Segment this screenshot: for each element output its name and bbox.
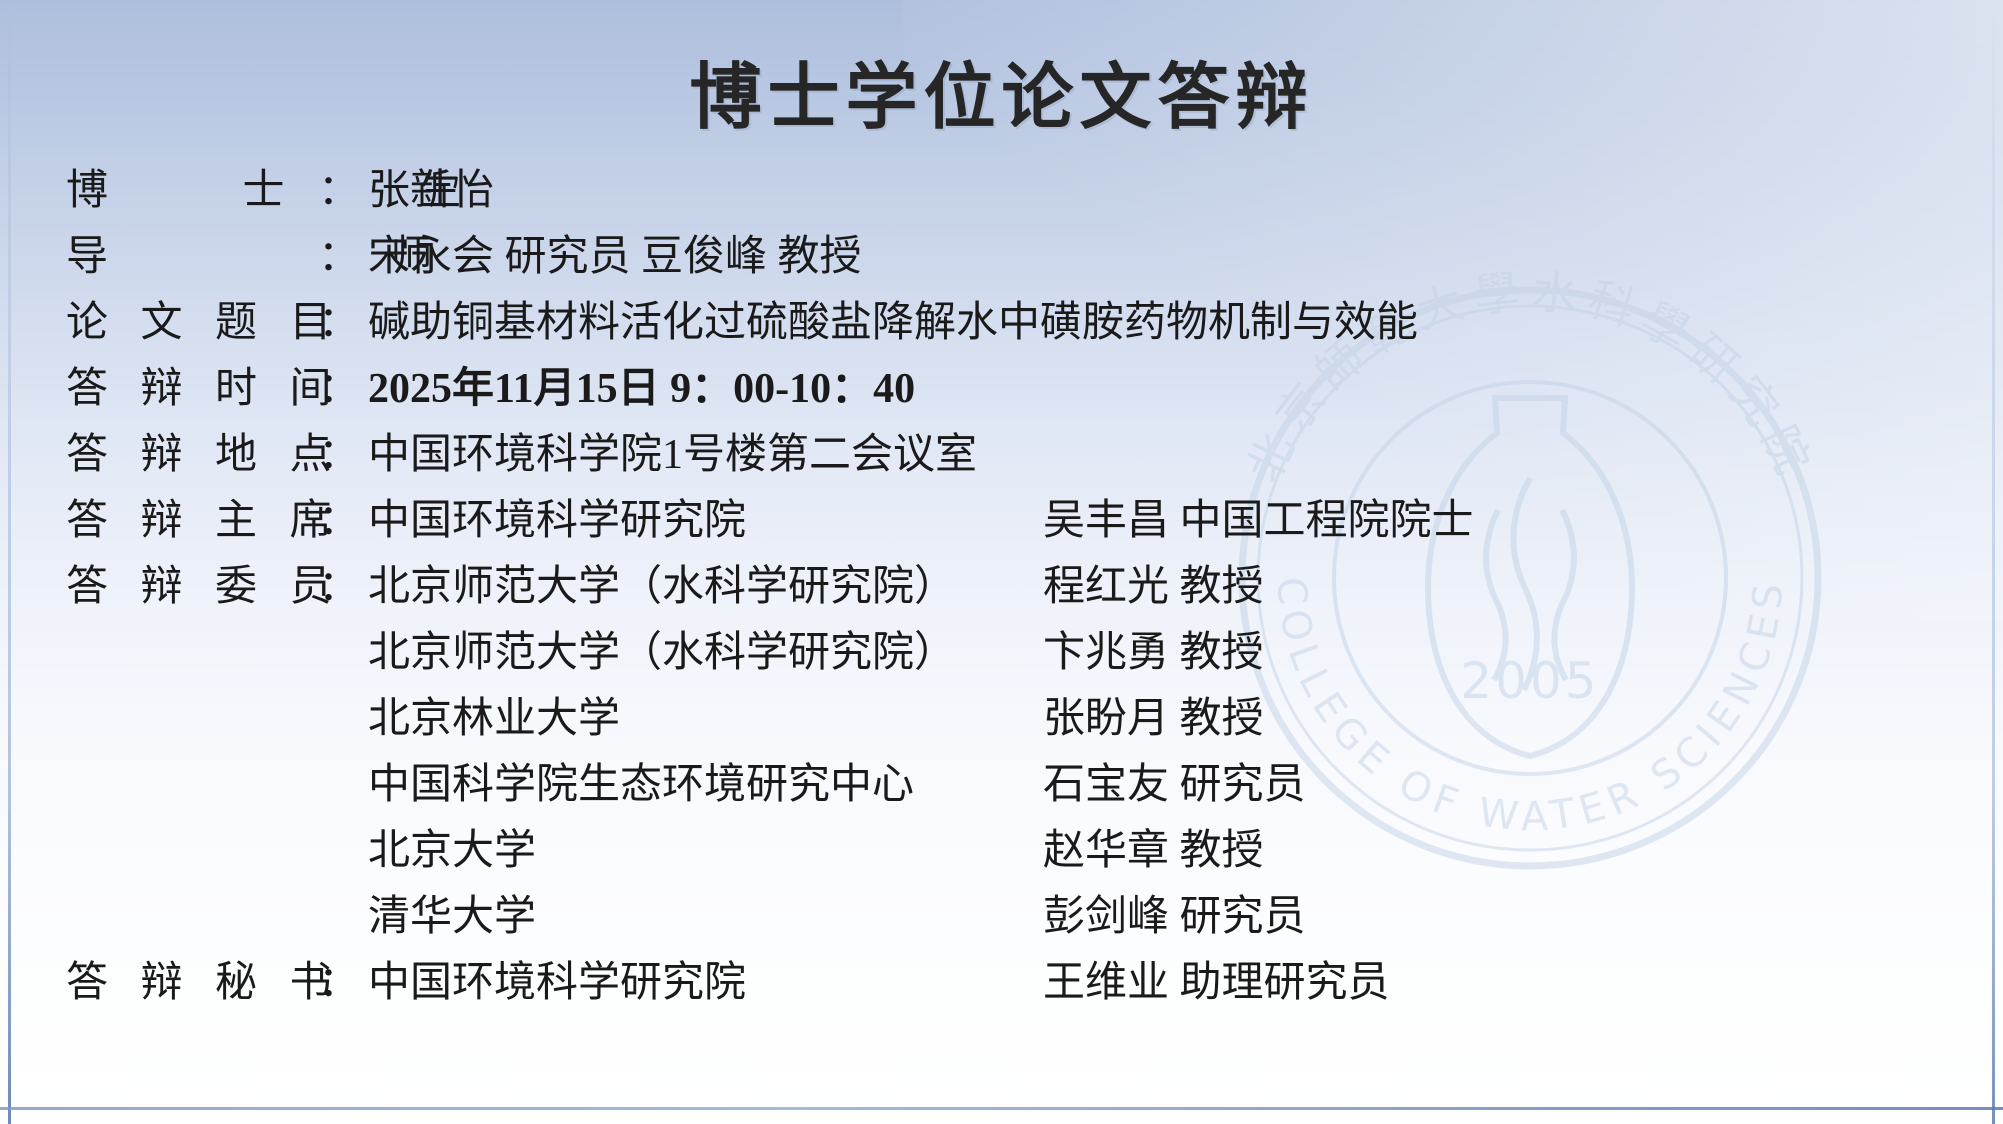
- colon-committee: ：: [318, 554, 360, 620]
- colon-student: ：: [318, 158, 360, 224]
- colon-chair: ：: [318, 488, 360, 554]
- value-committee-person-6: 彭剑峰 研究员: [1043, 884, 1306, 950]
- value-secretary-affiliation: 中国环境科学研究院: [368, 950, 746, 1016]
- value-committee-affiliation-6: 清华大学: [368, 884, 536, 950]
- row-student: 博 士 生 ： 张新怡: [0, 158, 2003, 224]
- value-committee-person-5: 赵华章 教授: [1043, 818, 1264, 884]
- value-advisor-name: 宋永会 研究员 豆俊峰 教授: [368, 224, 862, 290]
- label-chair: 答 辩 主 席: [66, 488, 356, 554]
- page-title: 博士学位论文答辩: [0, 38, 2003, 143]
- row-defense-time: 答 辩 时 间 ： 2025年11月15日 9：00-10：40: [0, 356, 2003, 422]
- row-committee-member-5: 北京大学 赵华章 教授: [0, 818, 2003, 884]
- value-committee-affiliation-1: 北京师范大学（水科学研究院）: [368, 554, 956, 620]
- colon-advisor: ：: [318, 224, 360, 290]
- label-thesis-title: 论 文 题 目: [66, 290, 356, 356]
- value-committee-person-1: 程红光 教授: [1043, 554, 1264, 620]
- row-secretary: 答 辩 秘 书 ： 中国环境科学研究院 王维业 助理研究员: [0, 950, 2003, 1016]
- value-student-name: 张新怡: [368, 158, 494, 224]
- row-defense-place: 答 辩 地 点 ： 中国环境科学院1号楼第二会议室: [0, 422, 2003, 488]
- info-rows: 博 士 生 ： 张新怡 导 师 ： 宋永会 研究员 豆俊峰 教授 论 文 题 目…: [0, 158, 2003, 1016]
- row-committee-member-4: 中国科学院生态环境研究中心 石宝友 研究员: [0, 752, 2003, 818]
- value-committee-person-2: 卞兆勇 教授: [1043, 620, 1264, 686]
- row-committee-member-6: 清华大学 彭剑峰 研究员: [0, 884, 2003, 950]
- label-defense-place: 答 辩 地 点: [66, 422, 356, 488]
- label-committee: 答 辩 委 员: [66, 554, 356, 620]
- label-advisor: 导 师: [66, 224, 356, 290]
- value-chair-person: 吴丰昌 中国工程院院士: [1043, 488, 1474, 554]
- row-advisor: 导 师 ： 宋永会 研究员 豆俊峰 教授: [0, 224, 2003, 290]
- label-student: 博 士 生: [66, 158, 356, 224]
- value-committee-person-4: 石宝友 研究员: [1043, 752, 1306, 818]
- value-committee-affiliation-4: 中国科学院生态环境研究中心: [368, 752, 914, 818]
- row-committee-member-2: 北京师范大学（水科学研究院） 卞兆勇 教授: [0, 620, 2003, 686]
- value-secretary-person: 王维业 助理研究员: [1043, 950, 1390, 1016]
- colon-defense-time: ：: [318, 356, 360, 422]
- value-committee-affiliation-2: 北京师范大学（水科学研究院）: [368, 620, 956, 686]
- row-chair: 答 辩 主 席 ： 中国环境科学研究院 吴丰昌 中国工程院院士: [0, 488, 2003, 554]
- bottom-border-rule: [0, 1107, 2003, 1110]
- colon-secretary: ：: [318, 950, 360, 1016]
- row-thesis-title: 论 文 题 目 ： 碱助铜基材料活化过硫酸盐降解水中磺胺药物机制与效能: [0, 290, 2003, 356]
- right-border-rule: [1992, 0, 1995, 1124]
- value-committee-person-3: 张盼月 教授: [1043, 686, 1264, 752]
- colon-thesis-title: ：: [318, 290, 360, 356]
- label-defense-time: 答 辩 时 间: [66, 356, 356, 422]
- value-chair-affiliation: 中国环境科学研究院: [368, 488, 746, 554]
- value-defense-time: 2025年11月15日 9：00-10：40: [368, 356, 915, 422]
- row-committee-member-1: 答 辩 委 员 ： 北京师范大学（水科学研究院） 程红光 教授: [0, 554, 2003, 620]
- value-committee-affiliation-5: 北京大学: [368, 818, 536, 884]
- left-border-rule: [8, 0, 11, 1124]
- value-thesis-title: 碱助铜基材料活化过硫酸盐降解水中磺胺药物机制与效能: [368, 290, 1418, 356]
- value-defense-place: 中国环境科学院1号楼第二会议室: [368, 422, 977, 488]
- defense-announcement-slide: 北京師範大學水科學研究院 COLLEGE OF WATER SCIENCES 2…: [0, 0, 2003, 1124]
- value-committee-affiliation-3: 北京林业大学: [368, 686, 620, 752]
- row-committee-member-3: 北京林业大学 张盼月 教授: [0, 686, 2003, 752]
- colon-defense-place: ：: [318, 422, 360, 488]
- label-secretary: 答 辩 秘 书: [66, 950, 356, 1016]
